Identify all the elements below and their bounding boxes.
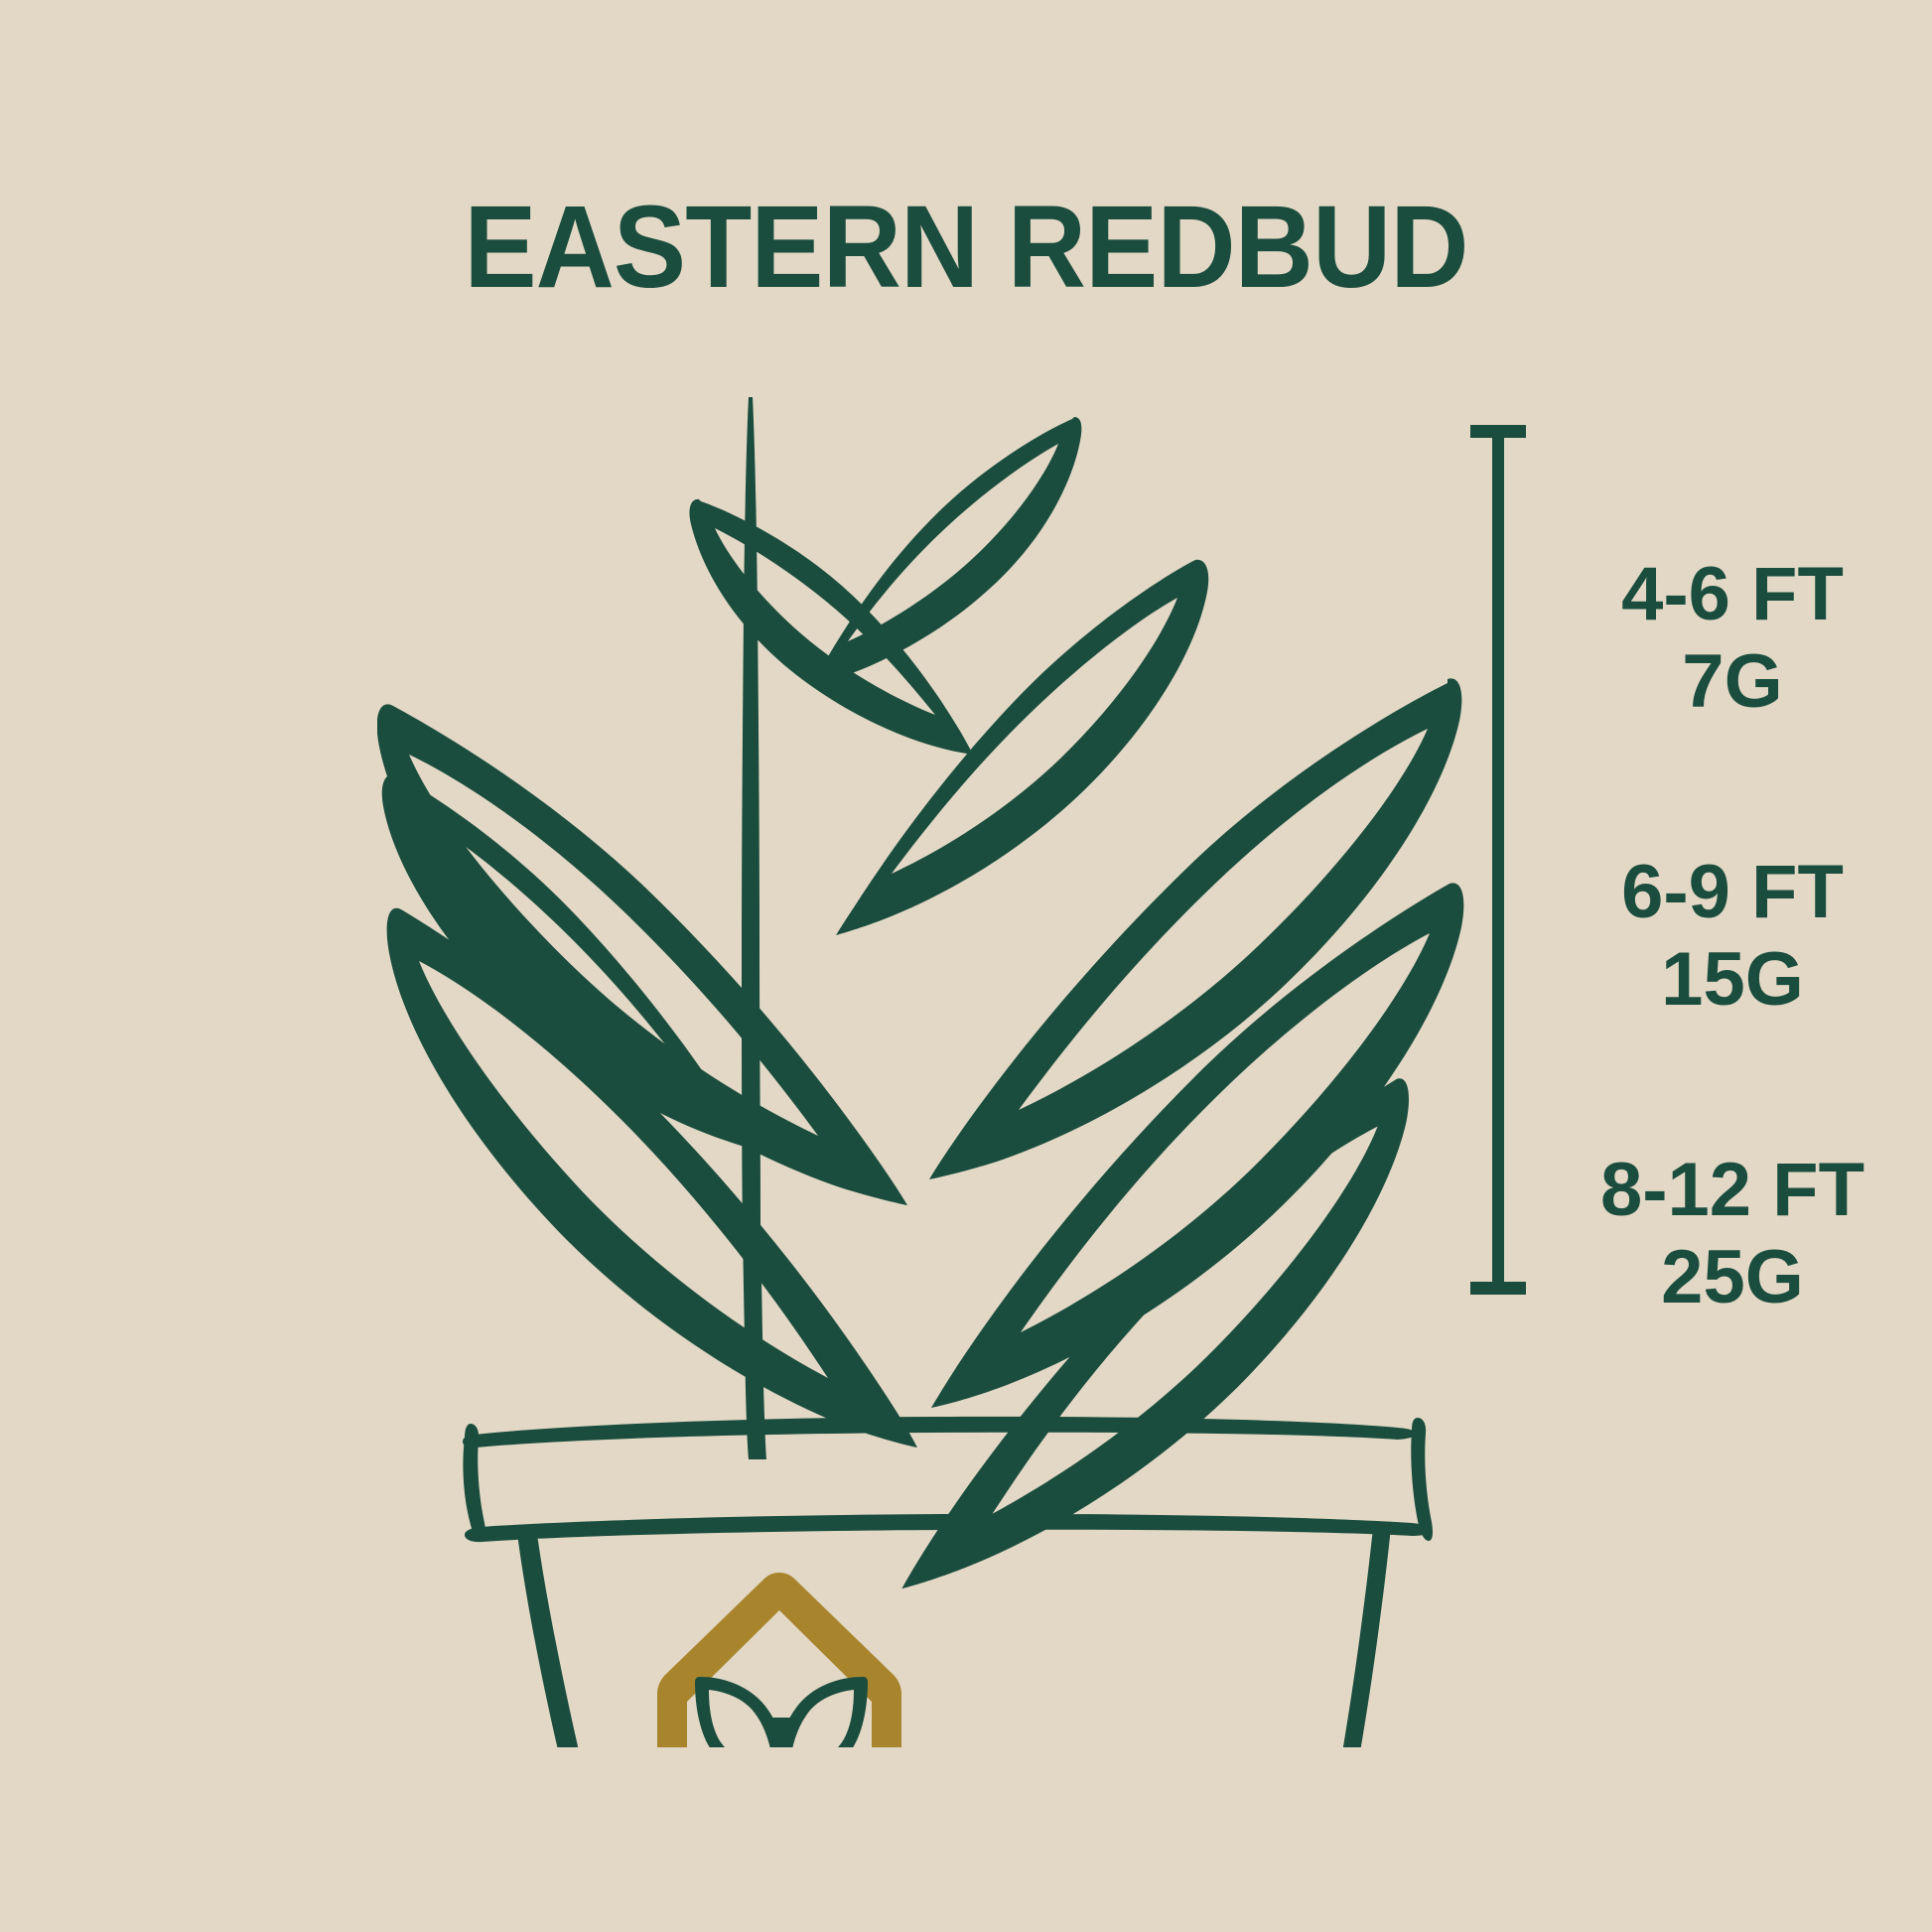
potted-plant-icon	[377, 397, 1469, 1747]
potted-plant-illustration	[377, 397, 1469, 1747]
size-group-25g: 8-12 FT 25G	[1549, 1147, 1916, 1321]
size-container-label: 15G	[1549, 936, 1916, 1024]
size-container-label: 7G	[1549, 638, 1916, 726]
size-legend: 4-6 FT 7G 6-9 FT 15G 8-12 FT 25G	[1469, 397, 1932, 1330]
plant-size-poster: EASTERN REDBUD	[0, 0, 1932, 1932]
size-height-label: 8-12 FT	[1549, 1147, 1916, 1234]
size-container-label: 25G	[1549, 1234, 1916, 1321]
size-height-label: 4-6 FT	[1549, 551, 1916, 638]
vertical-measure-bar-icon	[1469, 397, 1529, 1330]
page-title: EASTERN REDBUD	[68, 189, 1864, 306]
size-group-15g: 6-9 FT 15G	[1549, 849, 1916, 1024]
size-group-7g: 4-6 FT 7G	[1549, 551, 1916, 726]
house-with-sprout-logo-group	[657, 1573, 901, 1747]
size-height-label: 6-9 FT	[1549, 849, 1916, 936]
